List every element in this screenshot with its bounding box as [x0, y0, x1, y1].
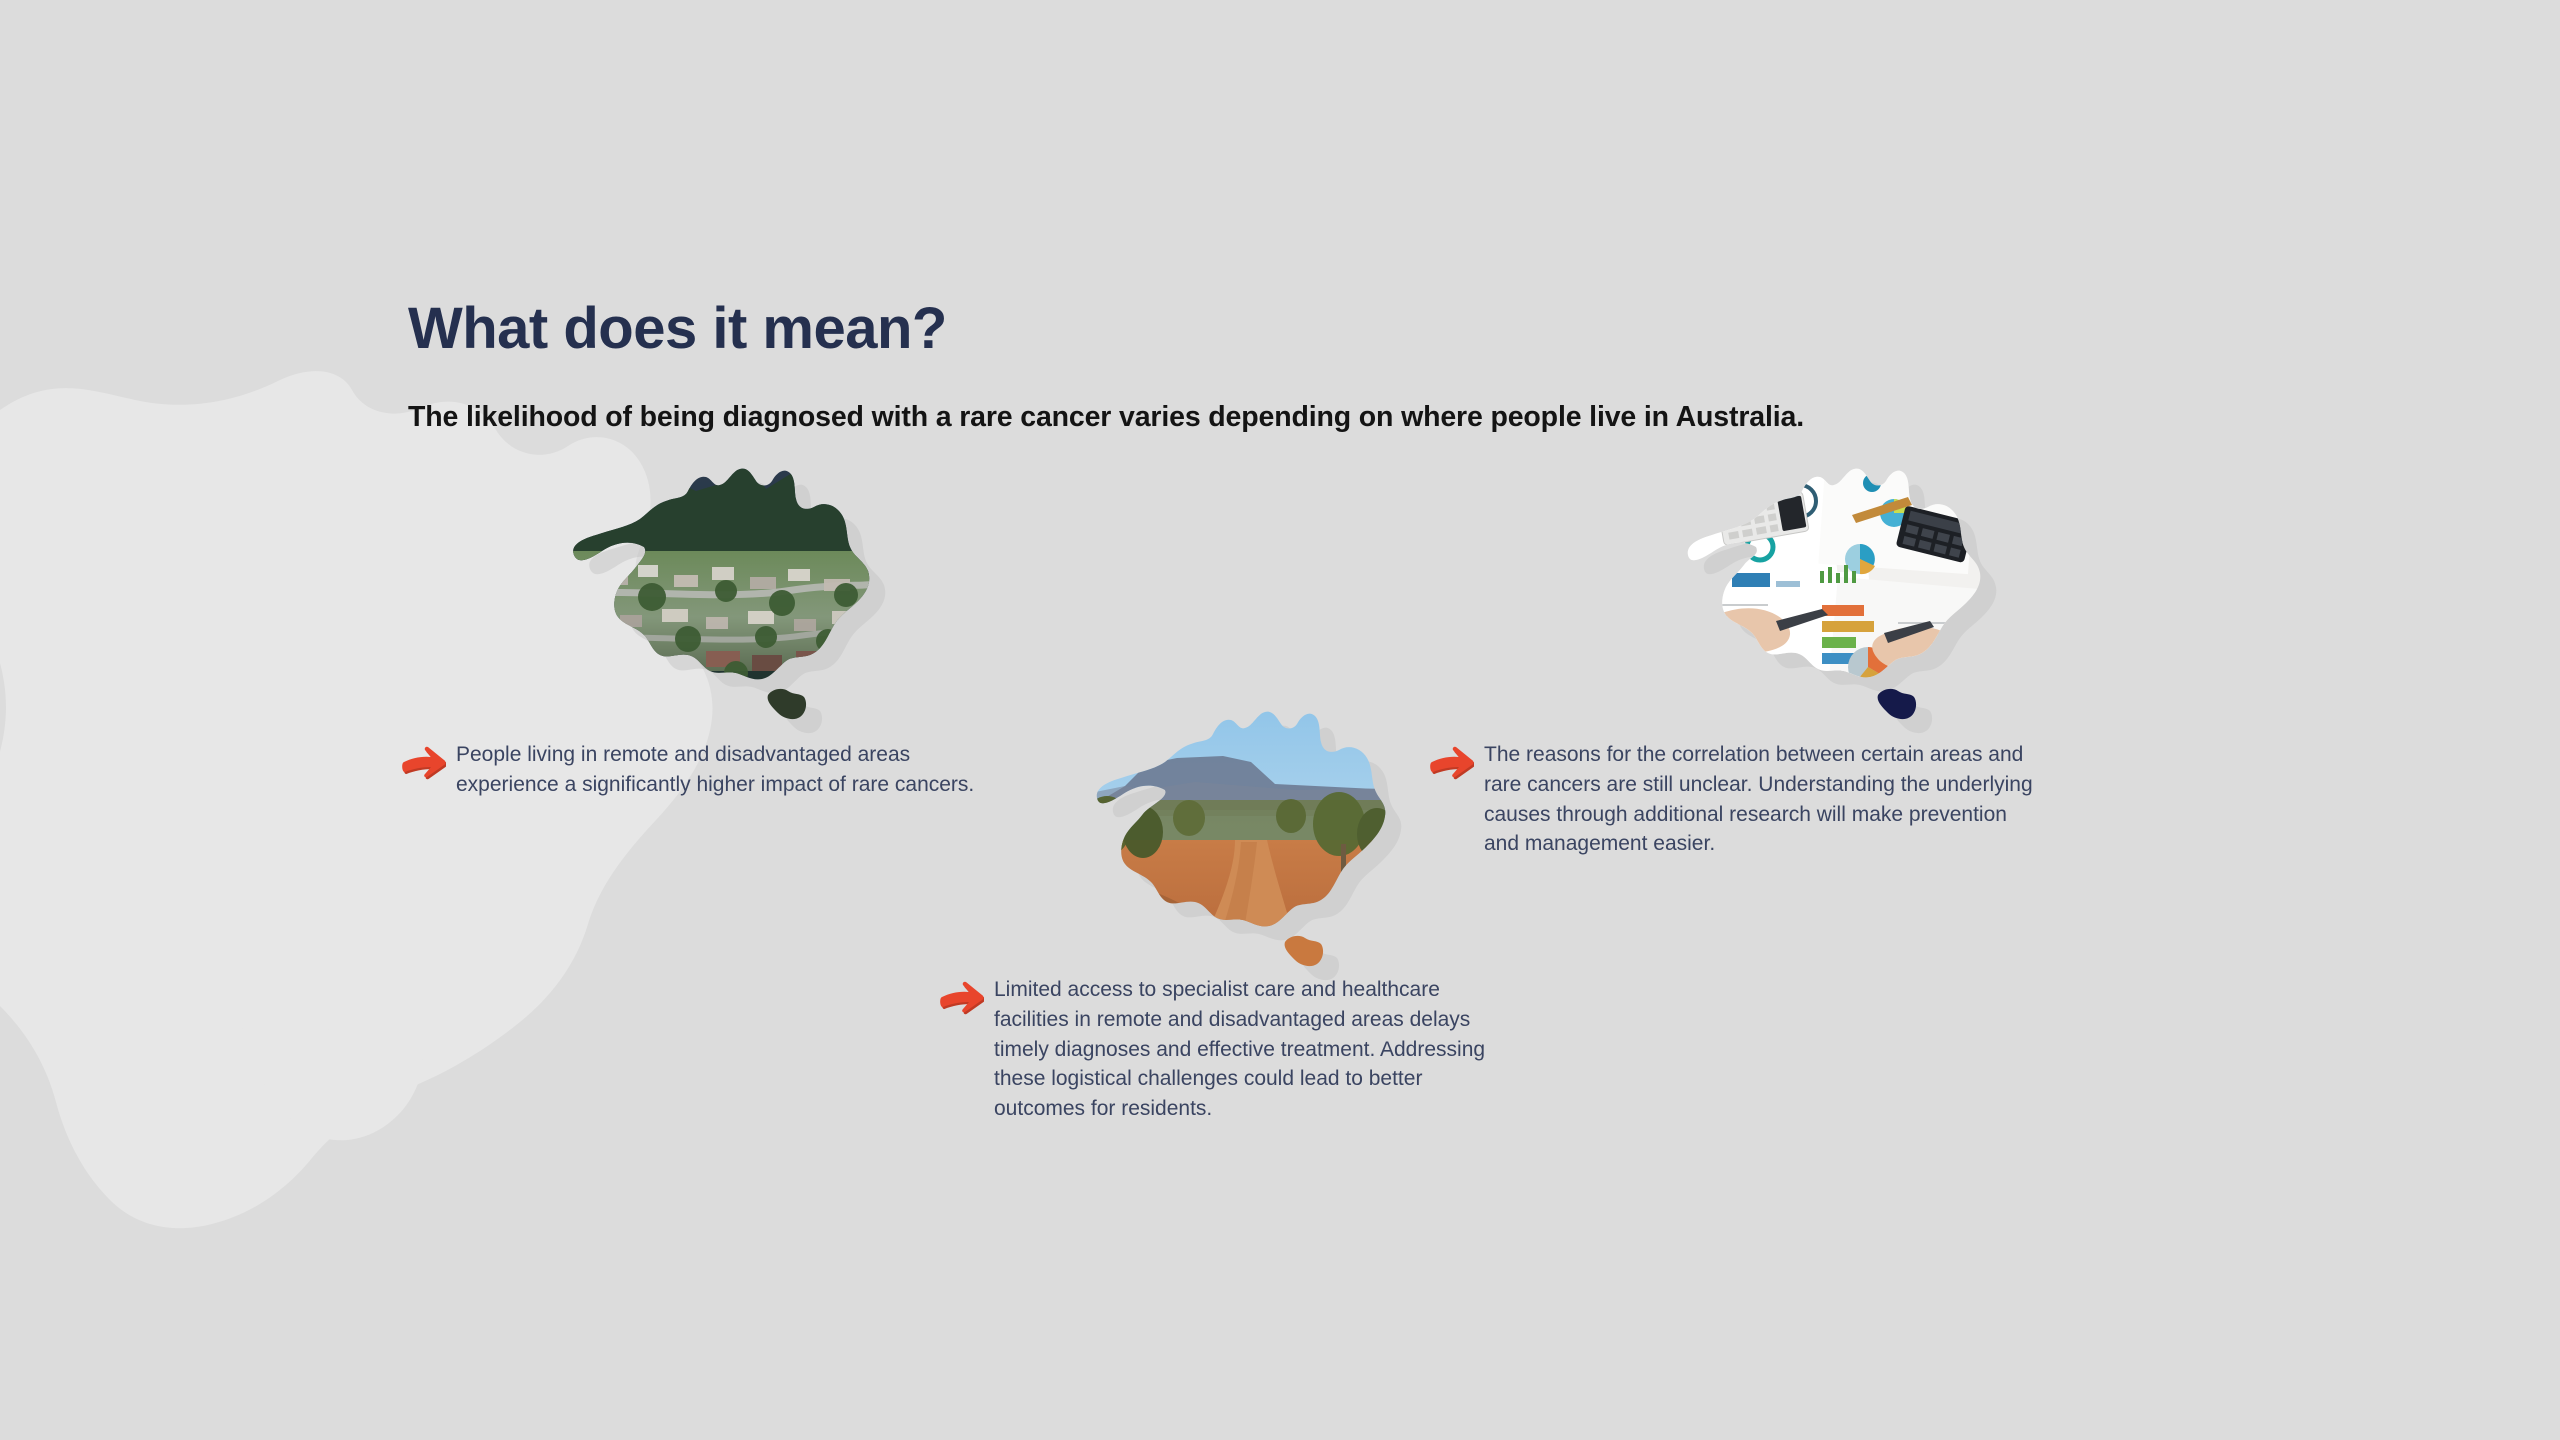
callout-research-text: The reasons for the correlation between …: [1484, 740, 2088, 859]
slide-canvas: What does it mean? The likelihood of bei…: [0, 0, 2560, 1440]
callout-limited-access: Limited access to specialist care and he…: [938, 975, 1558, 1124]
arrow-right-icon: [938, 981, 984, 1015]
page-subtitle: The likelihood of being diagnosed with a…: [408, 401, 1804, 434]
background-watermark-map: [0, 280, 940, 1380]
callout-unclear-reasons: The reasons for the correlation between …: [1428, 740, 2088, 859]
callout-access-text: Limited access to specialist care and he…: [994, 975, 1554, 1124]
arrow-right-icon: [1428, 746, 1474, 780]
australia-map-outback: [1085, 690, 1395, 985]
arrow-right-icon: [400, 746, 446, 780]
callout-remote-disadvantage: People living in remote and disadvantage…: [400, 740, 1060, 800]
map-photo-suburban: [556, 455, 886, 725]
australia-map-suburban: [556, 455, 886, 725]
callout-remote-text: People living in remote and disadvantage…: [456, 740, 1056, 800]
australia-map-research: [1672, 455, 1992, 730]
page-title: What does it mean?: [408, 297, 947, 361]
map-tasmania-suburban: [768, 689, 822, 733]
watermark-tasmania-shape: [240, 1017, 422, 1140]
map-photo-outback: [1083, 690, 1397, 1000]
map-photo-research: [1672, 454, 1992, 730]
map-tasmania-research: [1878, 689, 1932, 733]
map-tasmania-outback: [1285, 936, 1339, 980]
